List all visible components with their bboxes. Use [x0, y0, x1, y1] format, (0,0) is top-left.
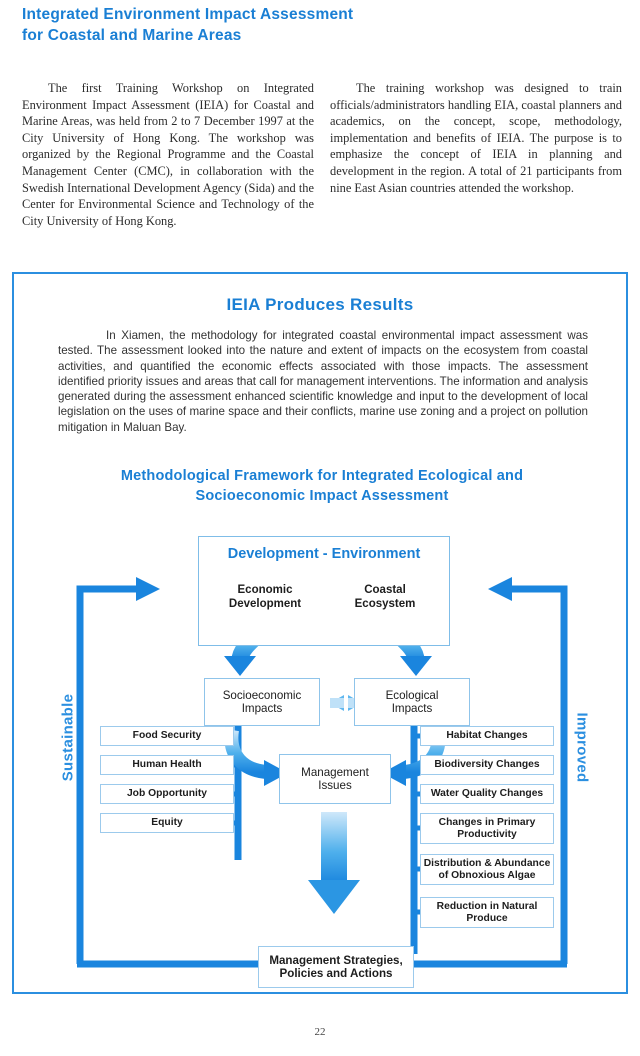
- management-issues-line1: Management: [301, 766, 369, 779]
- management-issues-line2: Issues: [318, 779, 352, 792]
- left-item-job-opportunity: Job Opportunity: [100, 784, 234, 804]
- management-strategies-line1: Management Strategies,: [269, 954, 402, 967]
- page-number: 22: [0, 1026, 640, 1038]
- left-item-job-opportunity-label: Job Opportunity: [127, 788, 207, 800]
- node-management-strategies-text: Management Strategies, Policies and Acti…: [269, 954, 402, 980]
- right-item-natural-produce-text: Reduction in Natural Produce: [437, 901, 538, 924]
- page-title-line2: for Coastal and Marine Areas: [22, 25, 542, 46]
- intro-paragraph-right: The training workshop was designed to tr…: [330, 80, 622, 196]
- left-item-equity: Equity: [100, 813, 234, 833]
- node-socioeconomic-impacts: Socioeconomic Impacts: [204, 678, 320, 726]
- socioeconomic-impacts-line2: Impacts: [242, 702, 283, 715]
- node-ecological-impacts: Ecological Impacts: [354, 678, 470, 726]
- right-item-obnoxious-algae-line1: Distribution & Abundance: [424, 858, 551, 869]
- left-item-equity-label: Equity: [151, 817, 182, 829]
- right-item-habitat-changes: Habitat Changes: [420, 726, 554, 746]
- right-item-water-quality-changes: Water Quality Changes: [420, 784, 554, 804]
- coastal-ecosystem-line1: Coastal: [364, 584, 406, 596]
- right-item-natural-produce: Reduction in Natural Produce: [420, 897, 554, 928]
- coastal-ecosystem-label: Coastal Ecosystem: [333, 583, 437, 611]
- left-item-food-security-label: Food Security: [133, 730, 202, 742]
- improved-rail-label: Improved: [574, 688, 591, 808]
- right-item-natural-produce-line1: Reduction in Natural: [437, 901, 538, 912]
- right-item-biodiversity-changes-label: Biodiversity Changes: [434, 759, 539, 771]
- right-item-obnoxious-algae-line2: of Obnoxious Algae: [439, 870, 536, 881]
- right-item-obnoxious-algae: Distribution & Abundance of Obnoxious Al…: [420, 854, 554, 885]
- development-environment-title: Development - Environment: [199, 546, 449, 562]
- page-title: Integrated Environment Impact Assessment…: [22, 4, 542, 46]
- node-ecological-impacts-text: Ecological Impacts: [386, 689, 439, 715]
- left-item-food-security: Food Security: [100, 726, 234, 746]
- left-item-human-health: Human Health: [100, 755, 234, 775]
- right-item-primary-productivity-line2: Productivity: [457, 829, 517, 840]
- node-socioeconomic-impacts-text: Socioeconomic Impacts: [223, 689, 302, 715]
- socioeconomic-impacts-line1: Socioeconomic: [223, 689, 302, 702]
- development-environment-panel: Development - Environment Economic Devel…: [198, 536, 450, 646]
- intro-column-left: The first Training Workshop on Integrate…: [22, 80, 314, 229]
- arrow-to-strategies: [308, 812, 360, 914]
- right-item-water-quality-changes-label: Water Quality Changes: [431, 788, 543, 800]
- ieia-results-section: IEIA Produces Results In Xiamen, the met…: [12, 272, 628, 994]
- economic-development-label: Economic Development: [213, 583, 317, 611]
- intro-paragraph-left: The first Training Workshop on Integrate…: [22, 80, 314, 229]
- ecological-impacts-line2: Impacts: [392, 702, 433, 715]
- right-item-habitat-changes-label: Habitat Changes: [446, 730, 527, 742]
- right-item-primary-productivity-text: Changes in Primary Productivity: [439, 817, 536, 840]
- sustainable-rail-label: Sustainable: [60, 678, 77, 798]
- page-title-line1: Integrated Environment Impact Assessment: [22, 6, 353, 23]
- right-item-primary-productivity-line1: Changes in Primary: [439, 817, 536, 828]
- economic-development-line1: Economic: [238, 584, 293, 596]
- right-item-biodiversity-changes: Biodiversity Changes: [420, 755, 554, 775]
- methodological-framework-diagram: Development - Environment Economic Devel…: [14, 274, 630, 996]
- right-item-obnoxious-algae-text: Distribution & Abundance of Obnoxious Al…: [424, 858, 551, 881]
- left-item-human-health-label: Human Health: [132, 759, 201, 771]
- ecological-impacts-line1: Ecological: [386, 689, 439, 702]
- right-item-natural-produce-line2: Produce: [466, 913, 507, 924]
- intro-column-right: The training workshop was designed to tr…: [330, 80, 622, 196]
- intro-columns: The first Training Workshop on Integrate…: [22, 80, 622, 260]
- economic-development-line2: Development: [229, 598, 301, 610]
- management-strategies-line2: Policies and Actions: [280, 967, 393, 980]
- node-management-strategies: Management Strategies, Policies and Acti…: [258, 946, 414, 988]
- node-management-issues-text: Management Issues: [301, 766, 369, 792]
- right-item-primary-productivity: Changes in Primary Productivity: [420, 813, 554, 844]
- node-management-issues: Management Issues: [279, 754, 391, 804]
- coastal-ecosystem-line2: Ecosystem: [355, 598, 416, 610]
